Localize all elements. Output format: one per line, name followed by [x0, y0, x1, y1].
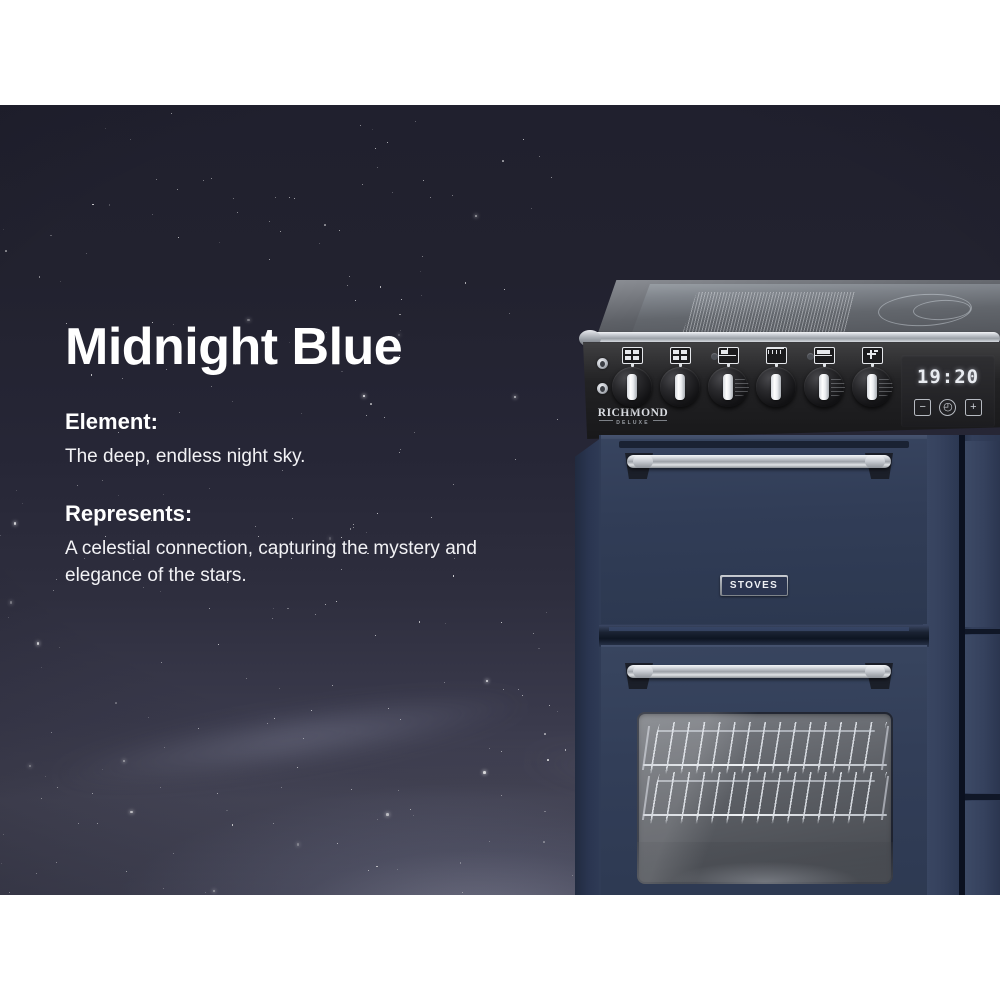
knob-pointer: [675, 374, 685, 400]
hob-zone-rear-left-knob[interactable]: [660, 367, 700, 407]
knob-dial-markings: [831, 378, 845, 396]
oven-display-panel: 19:20 − ◴ +: [901, 355, 995, 427]
knob-pointer: [723, 374, 733, 400]
minus-button[interactable]: −: [914, 399, 931, 416]
ceramic-hob-surface: [583, 280, 1000, 340]
hob-zone-front-left-knob[interactable]: [612, 367, 652, 407]
knob-dial-markings: [735, 378, 749, 396]
brand-name: RICHMOND: [591, 407, 675, 419]
page-title: Midnight Blue: [65, 320, 535, 375]
cooker-right-column: [923, 435, 963, 895]
oven-pilot-light: [807, 353, 814, 360]
fan-oven-icon: [862, 347, 883, 364]
element-value: The deep, endless night sky.: [65, 444, 535, 471]
upper-door-vent-slot: [619, 441, 909, 448]
hob-textured-zone: [671, 292, 856, 334]
range-cooker-product-image: RICHMOND DELUXE: [575, 280, 1000, 895]
clock-time: 19:20: [901, 366, 995, 388]
handle-end-cap-right: [865, 455, 885, 468]
handle-bar: [627, 665, 891, 678]
side-compartment-door-top[interactable]: [965, 441, 1000, 627]
hob-zone-icon: [622, 347, 643, 364]
knob-dial-markings: [879, 378, 893, 396]
banner-copy: Midnight Blue Element: The deep, endless…: [65, 320, 535, 590]
top-oven-function-knob[interactable]: [708, 367, 748, 407]
hob-pilot-light: [711, 353, 718, 360]
heat-indicator-light: [597, 383, 608, 394]
knob-index-mark: [727, 363, 730, 367]
knob-pointer: [867, 374, 877, 400]
represents-value: A celestial connection, capturing the my…: [65, 536, 535, 590]
midnight-blue-banner: Midnight Blue Element: The deep, endless…: [0, 105, 1000, 895]
handle-end-cap-right: [865, 665, 885, 678]
hob-zone-icon: [670, 347, 691, 364]
page-canvas: Midnight Blue Element: The deep, endless…: [0, 0, 1000, 1000]
knob-pointer: [819, 374, 829, 400]
display-button-row: − ◴ +: [901, 399, 995, 416]
handle-bar: [627, 455, 891, 468]
power-indicator-light: [597, 358, 608, 369]
knob-pointer: [771, 374, 781, 400]
main-oven-temperature-knob[interactable]: [852, 367, 892, 407]
knob-index-mark: [871, 363, 874, 367]
grill-knob[interactable]: [756, 367, 796, 407]
oven-mid-rail-highlight: [609, 627, 909, 631]
element-label: Element:: [65, 409, 535, 435]
side-compartment-gap-bottom: [965, 794, 1000, 800]
knob-pointer: [627, 374, 637, 400]
plus-button[interactable]: +: [965, 399, 982, 416]
side-compartment-door-middle[interactable]: [965, 635, 1000, 793]
knob-index-mark: [775, 363, 778, 367]
timer-clock-button[interactable]: ◴: [939, 399, 956, 416]
side-compartment-gap-top: [965, 629, 1000, 634]
knob-index-mark: [631, 363, 634, 367]
handle-end-cap-left: [633, 665, 653, 678]
represents-label: Represents:: [65, 501, 535, 527]
control-fascia: RICHMOND DELUXE: [583, 342, 1000, 439]
upper-oven-door-handle[interactable]: [627, 451, 891, 479]
brand-subtitle: DELUXE: [591, 420, 675, 426]
knob-index-mark: [679, 363, 682, 367]
main-oven-function-knob[interactable]: [804, 367, 844, 407]
glass-reflection: [637, 712, 785, 884]
knob-index-mark: [823, 363, 826, 367]
richmond-brand-plate: RICHMOND DELUXE: [591, 407, 675, 426]
grill-icon: [766, 347, 787, 364]
oven-door-glass-window: [637, 712, 893, 884]
handle-end-cap-left: [633, 455, 653, 468]
side-compartment-door-bottom[interactable]: [965, 801, 1000, 895]
lower-oven-door-handle[interactable]: [627, 661, 891, 689]
stoves-badge-inner: STOVES: [722, 577, 787, 595]
oven-function-icon: [814, 347, 835, 364]
stoves-badge-text: STOVES: [730, 580, 778, 591]
oven-function-icon: [718, 347, 739, 364]
stoves-badge: STOVES: [720, 575, 788, 596]
cooker-body: STOVES: [575, 435, 1000, 895]
